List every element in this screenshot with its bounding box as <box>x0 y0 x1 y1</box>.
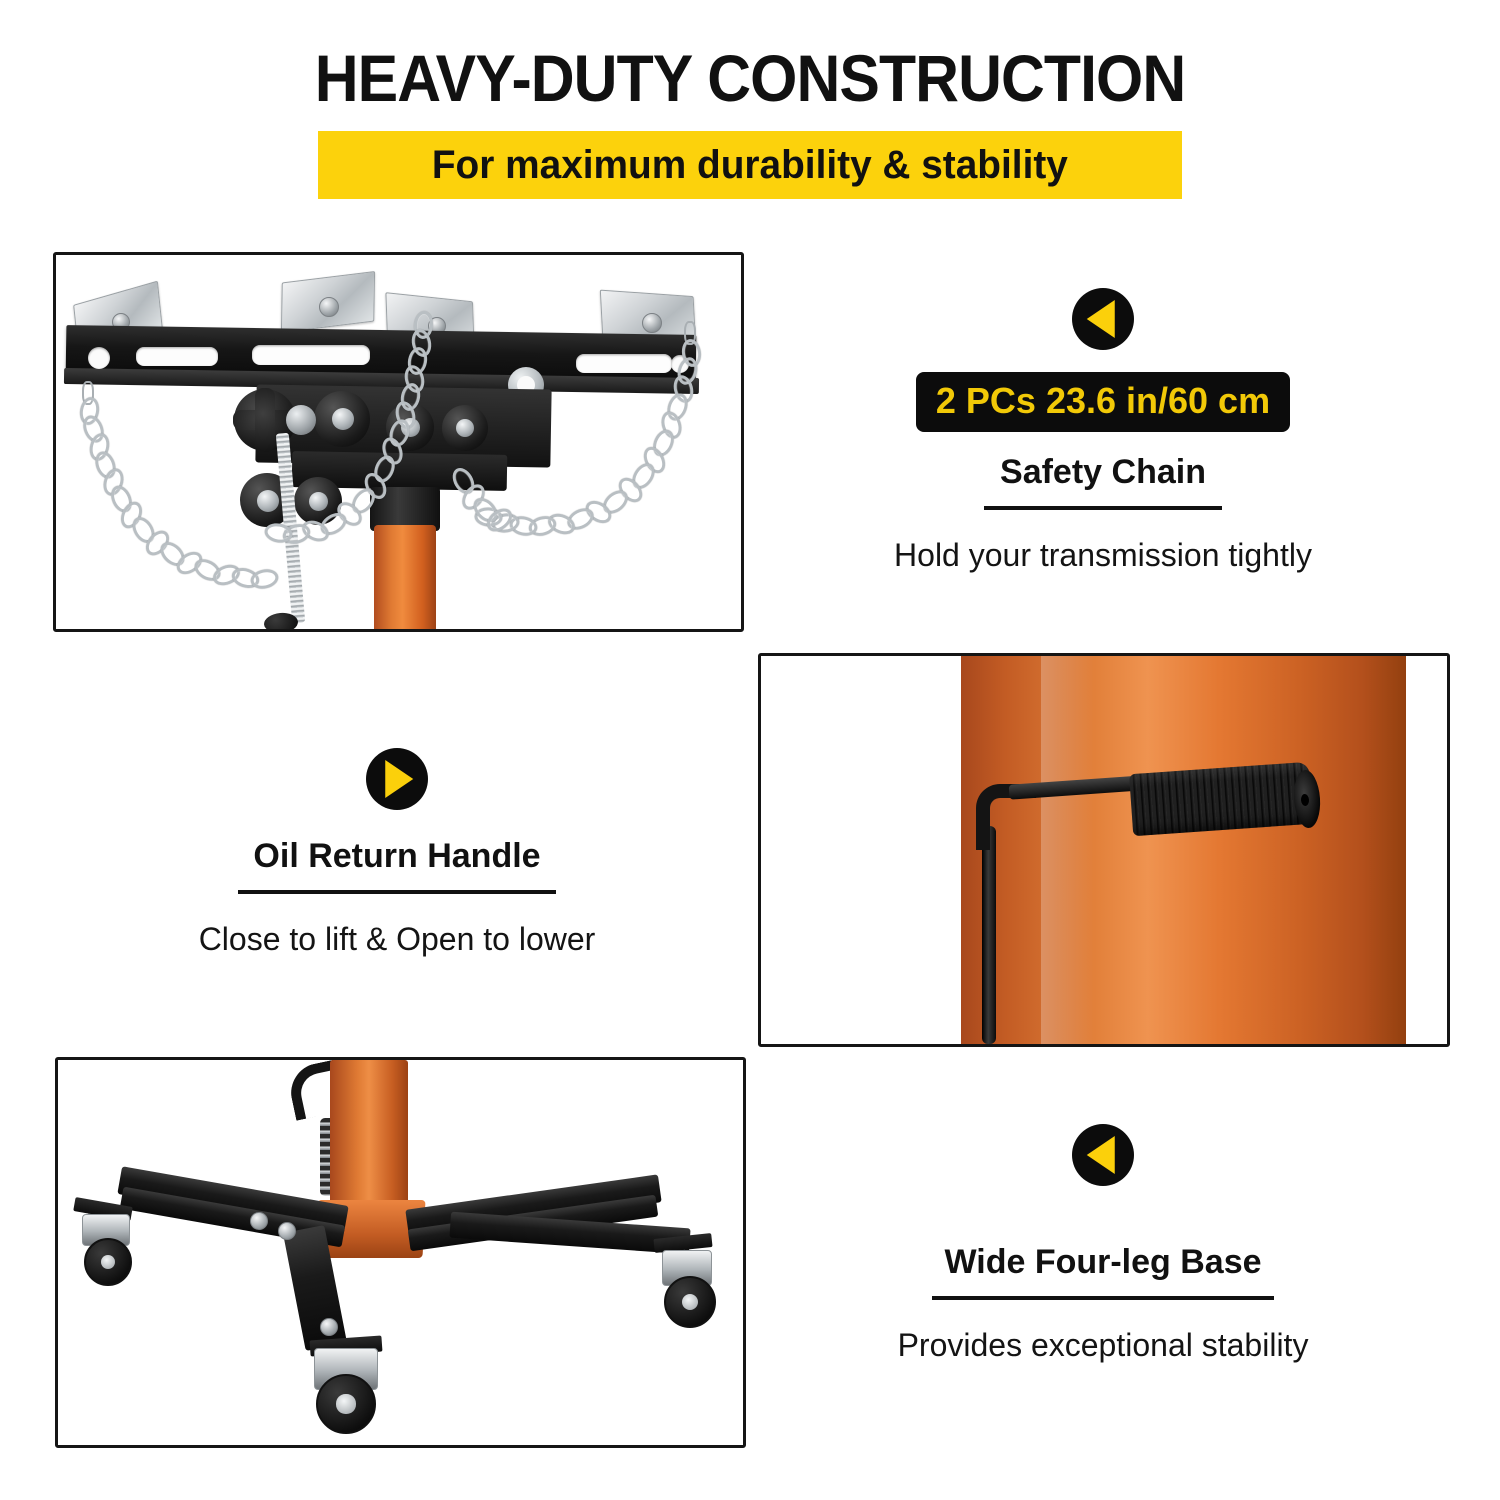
feature-title: Wide Four-leg Base <box>760 1242 1446 1282</box>
caster-wheel-left[interactable] <box>84 1238 132 1286</box>
feature-wide-four-leg-base: Wide Four-leg Base Provides exceptional … <box>760 1124 1446 1364</box>
feature-title: Oil Return Handle <box>54 836 740 876</box>
triangle-right-icon <box>366 748 428 810</box>
triangle-left-glyph <box>1087 300 1115 338</box>
saddle-scene <box>56 255 741 629</box>
center-column <box>330 1060 408 1212</box>
triangle-left-glyph <box>1087 1136 1115 1174</box>
feature-safety-chain: 2 PCs 23.6 in/60 cm Safety Chain Hold yo… <box>760 288 1446 574</box>
triangle-left-icon <box>1072 288 1134 350</box>
beam-slot-right <box>576 354 672 373</box>
roller-lower-2-bore <box>309 492 328 511</box>
leg-bolt-3 <box>320 1318 338 1336</box>
beam-hole-left <box>88 347 110 369</box>
triangle-left-icon <box>1072 1124 1134 1186</box>
beam-slot-left <box>136 347 218 366</box>
roller-1-bore <box>332 408 354 430</box>
saddle-chain-photo <box>53 252 744 632</box>
feature-oil-return-handle: Oil Return Handle Close to lift & Open t… <box>54 748 740 958</box>
title-underline <box>238 890 556 894</box>
feature-description: Close to lift & Open to lower <box>54 920 740 958</box>
beam-slot-center <box>252 345 370 365</box>
four-leg-base-photo <box>55 1057 746 1448</box>
plate-bolt-2 <box>319 297 339 317</box>
title-underline <box>984 506 1222 510</box>
base-scene <box>58 1060 743 1445</box>
infographic-page: HEAVY-DUTY CONSTRUCTION For maximum dura… <box>0 0 1500 1500</box>
feature-description: Provides exceptional stability <box>760 1326 1446 1364</box>
hydraulic-cylinder <box>961 656 1406 1044</box>
threaded-rod-cap <box>263 612 299 632</box>
hydraulic-ram <box>374 525 436 632</box>
leg-bolt-1 <box>250 1212 268 1230</box>
caster-wheel-front[interactable] <box>316 1374 376 1434</box>
caster-wheel-right[interactable] <box>664 1276 716 1328</box>
title-underline <box>932 1296 1274 1300</box>
roller-lower-bore <box>257 490 279 512</box>
status-badge: 2 PCs 23.6 in/60 cm <box>916 372 1290 432</box>
subtitle-text: For maximum durability & stability <box>432 143 1068 187</box>
feature-description: Hold your transmission tightly <box>760 536 1446 574</box>
triangle-right-glyph <box>385 760 413 798</box>
handle-scene <box>761 656 1447 1044</box>
feature-title: Safety Chain <box>760 452 1446 492</box>
leg-bolt-2 <box>278 1222 296 1240</box>
subtitle-banner: For maximum durability & stability <box>318 131 1182 199</box>
handle-ribbed-grip[interactable] <box>1129 762 1313 836</box>
page-title: HEAVY-DUTY CONSTRUCTION <box>60 42 1440 114</box>
handle-vertical-arm <box>982 826 996 1044</box>
roller-3-bore <box>456 419 474 437</box>
knob-shaft-cap <box>286 405 316 435</box>
plate-bolt-4 <box>642 313 662 333</box>
oil-return-handle-photo <box>758 653 1450 1047</box>
